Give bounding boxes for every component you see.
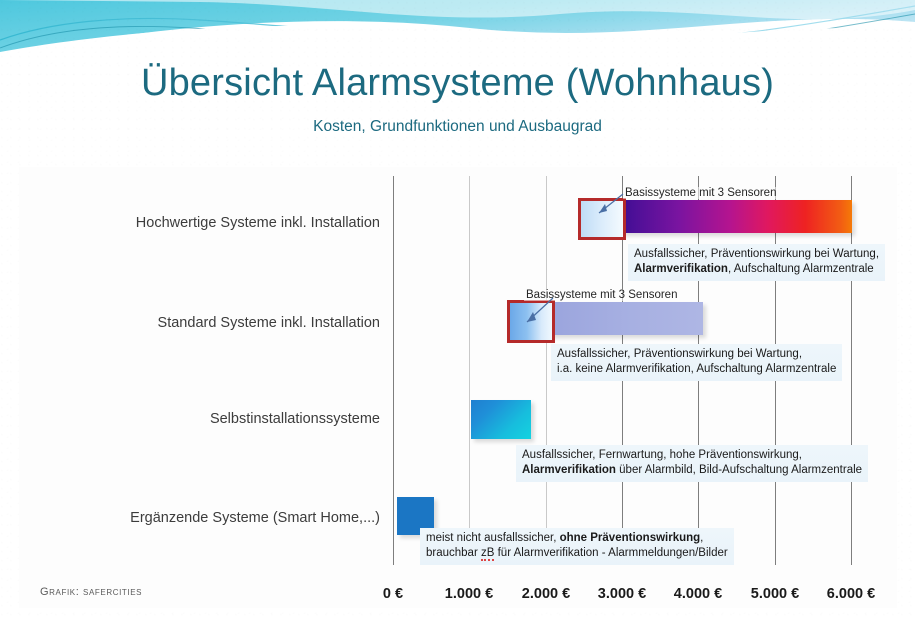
desc-line-1: Ausfallssicher, Präventionswirkung bei W… — [634, 248, 879, 260]
xtick-6000: 6.000 € — [827, 586, 875, 602]
desc-line-2-bold: Alarmverifikation — [522, 464, 616, 476]
desc-line-2-tail: für Alarmverifikation - Alarmmeldungen/B… — [494, 547, 727, 559]
gridline-2000 — [546, 176, 547, 565]
desc-line-2-flagged: zB — [481, 547, 494, 561]
category-label-2: Standard Systeme inkl. Installation — [40, 315, 380, 331]
xtick-1000: 1.000 € — [445, 586, 493, 602]
leader-arrow-hochwertige — [592, 192, 626, 218]
callout-basissysteme-hochwertige: Basissysteme mit 3 Sensoren — [623, 187, 778, 199]
xtick-4000: 4.000 € — [674, 586, 722, 602]
description-hochwertige-systeme: Ausfallssicher, Präventionswirkung bei W… — [628, 244, 885, 281]
description-selbstinstallationssysteme: Ausfallssicher, Fernwartung, hohe Präven… — [516, 445, 868, 482]
desc-line-1: Ausfallssicher, Präventionswirkung bei W… — [557, 348, 802, 360]
xtick-2000: 2.000 € — [522, 586, 570, 602]
desc-line-1-tail: , — [700, 532, 703, 544]
page-title: Übersicht Alarmsysteme (Wohnhaus) — [0, 62, 915, 105]
desc-line-2-bold: Alarmverifikation — [634, 263, 728, 275]
desc-line-2: , Aufschaltung Alarmzentrale — [728, 263, 874, 275]
description-ergaenzende-systeme: meist nicht ausfallssicher, ohne Prävent… — [420, 528, 734, 565]
bar-selbstinstallationssysteme[interactable] — [471, 400, 531, 439]
graphic-credit: Grafik: safercities — [40, 586, 142, 598]
xtick-0: 0 € — [383, 586, 403, 602]
category-label-4: Ergänzende Systeme (Smart Home,...) — [40, 510, 380, 526]
desc-line-1: meist nicht ausfallssicher, — [426, 532, 560, 544]
leader-arrow-standard — [520, 296, 556, 328]
desc-line-2: über Alarmbild, Bild-Aufschaltung Alarmz… — [616, 464, 862, 476]
xtick-3000: 3.000 € — [598, 586, 646, 602]
decorative-wave-banner — [0, 0, 915, 62]
bar-hochwertige-systeme[interactable] — [618, 200, 852, 233]
x-axis-tick-labels: 0 € 1.000 € 2.000 € 3.000 € 4.000 € 5.00… — [393, 586, 851, 608]
gridline-0 — [393, 176, 394, 565]
gridline-1000 — [469, 176, 470, 565]
category-label-3: Selbstinstallationssysteme — [40, 411, 380, 427]
desc-line-1-bold: ohne Präventionswirkung — [560, 532, 701, 544]
description-standard-systeme: Ausfallssicher, Präventionswirkung bei W… — [551, 344, 842, 381]
gridline-6000 — [851, 176, 852, 565]
xtick-5000: 5.000 € — [751, 586, 799, 602]
bar-standard-systeme[interactable] — [545, 302, 703, 335]
page-subtitle: Kosten, Grundfunktionen und Ausbaugrad — [0, 118, 915, 136]
category-label-1: Hochwertige Systeme inkl. Installation — [40, 215, 380, 231]
desc-line-2: i.a. keine Alarmverifikation, Aufschaltu… — [557, 363, 836, 375]
desc-line-2: brauchbar — [426, 547, 481, 559]
desc-line-1: Ausfallssicher, Fernwartung, hohe Präven… — [522, 449, 802, 461]
